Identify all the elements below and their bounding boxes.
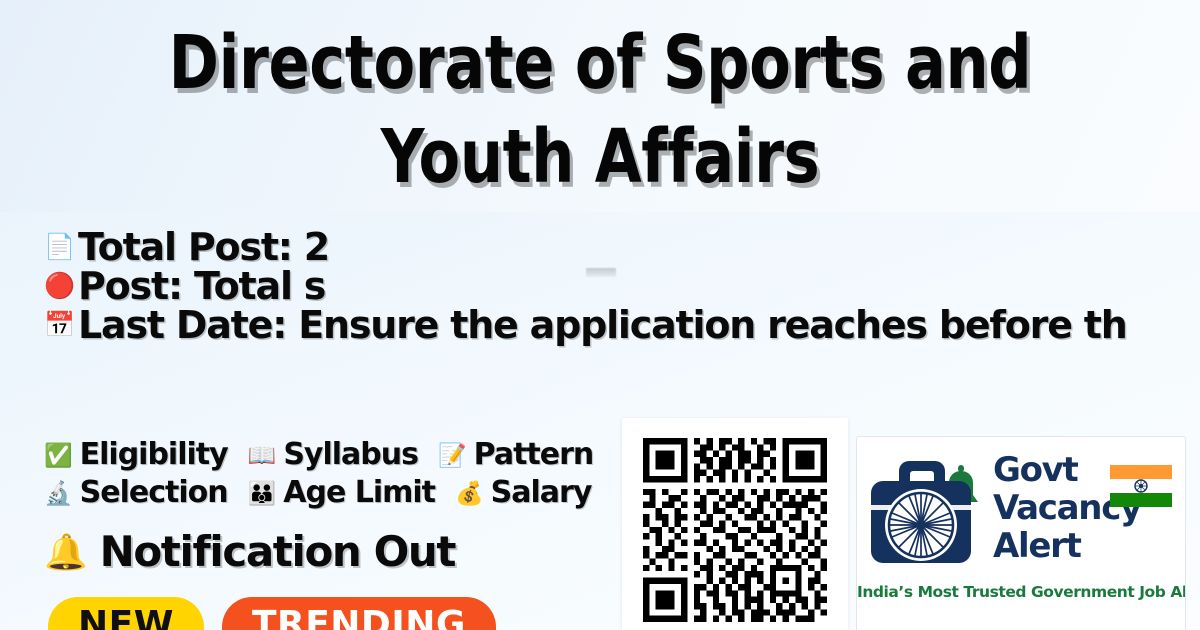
feature-pattern: 📝 Pattern (438, 438, 593, 472)
features-row-2: 🔬 Selection 👪 Age Limit 💰 Salary (44, 474, 644, 512)
brand-line-2: Vacancy (993, 489, 1109, 527)
info-line-total-post: 📄 Total Post: 2 (44, 228, 1200, 267)
hot-new-badge-icon: 🔴 (44, 274, 78, 299)
briefcase-chakra-bell-icon (865, 453, 991, 571)
feature-age-limit: 👪 Age Limit (248, 476, 435, 510)
brand-line-1: Govt (993, 451, 1109, 489)
qr-code-icon[interactable] (643, 438, 827, 622)
family-people-icon: 👪 (248, 482, 277, 505)
info-line-last-date: 📅 Last Date: Ensure the application reac… (44, 306, 1200, 345)
feature-label: Selection (80, 476, 228, 510)
brand-logo-card: Govt Vacancy Alert (856, 436, 1186, 630)
feature-label: Age Limit (283, 476, 435, 510)
brand-tagline: India’s Most Trusted Government Job Aler… (857, 583, 1185, 601)
poster-canvas: Directorate of Sports and Youth Affairs … (0, 0, 1200, 630)
info-line-text: Last Date: Ensure the application reache… (78, 306, 1127, 345)
features-row-1: ✅ Eligibility 📖 Syllabus 📝 Pattern (44, 436, 644, 474)
job-document-icon: 📄 (44, 235, 78, 260)
india-flag-icon (1110, 465, 1172, 507)
feature-salary: 💰 Salary (455, 476, 591, 510)
money-bag-icon: 💰 (455, 482, 484, 505)
badge-row: NEW TRENDING (48, 597, 496, 630)
header-band: Directorate of Sports and Youth Affairs (0, 0, 1200, 212)
feature-label: Eligibility (80, 438, 228, 472)
info-line-text: Post: Total s (78, 267, 325, 306)
page-title: Directorate of Sports and Youth Affairs (108, 16, 1092, 204)
feature-syllabus: 📖 Syllabus (248, 438, 418, 472)
open-book-icon: 📖 (248, 444, 277, 467)
feature-label: Syllabus (283, 438, 418, 472)
brand-logo-row: Govt Vacancy Alert (857, 447, 1185, 575)
selection-process-icon: 🔬 (44, 482, 73, 505)
feature-label: Pattern (474, 438, 594, 472)
info-block: 📄 Total Post: 2 🔴 Post: Total s 📅 Last D… (44, 228, 1200, 345)
exam-paper-icon: 📝 (438, 444, 467, 467)
feature-eligibility: ✅ Eligibility (44, 438, 228, 472)
status-badge-trending: TRENDING (222, 597, 496, 630)
notification-label: Notification Out (100, 528, 456, 576)
check-mark-icon: ✅ (44, 444, 73, 467)
feature-selection: 🔬 Selection (44, 476, 228, 510)
info-line-text: Total Post: 2 (78, 228, 329, 267)
qr-code-card[interactable] (622, 418, 848, 630)
status-badge-new: NEW (48, 597, 204, 630)
calendar-icon: 📅 (44, 313, 78, 338)
info-line-post: 🔴 Post: Total s (44, 267, 1200, 306)
brand-wordmark: Govt Vacancy Alert (993, 451, 1109, 565)
brand-line-3: Alert (993, 527, 1109, 565)
features-grid: ✅ Eligibility 📖 Syllabus 📝 Pattern 🔬 Sel… (44, 436, 644, 512)
bell-notification-icon: 🔔 (44, 535, 88, 570)
feature-label: Salary (491, 476, 592, 510)
notification-banner: 🔔 Notification Out (44, 528, 455, 576)
